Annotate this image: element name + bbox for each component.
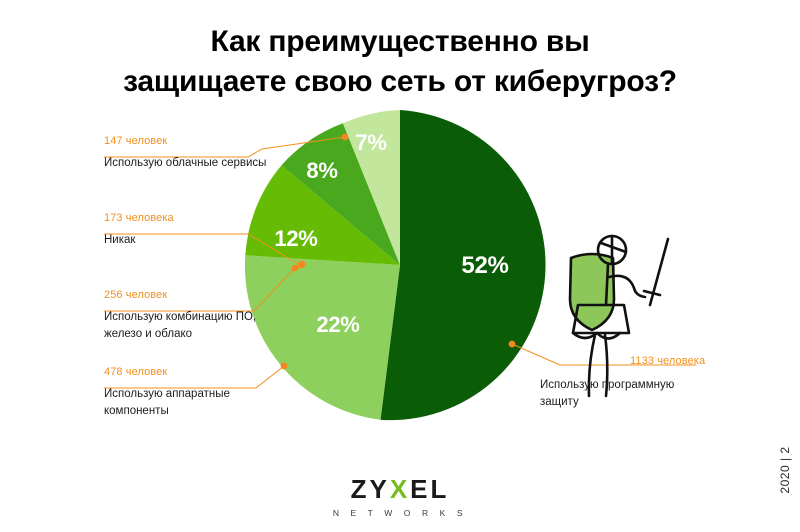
zyxel-wordmark: ZYXEL (0, 476, 800, 502)
pie-label-hardware: 22% (316, 312, 359, 338)
zyxel-wordmark-part2: EL (410, 474, 449, 504)
leader-dot-combo (292, 265, 299, 272)
zyxel-logo-subtitle: N E T W O R K S (0, 508, 800, 518)
callout-none: 173 человека Никак (104, 212, 174, 249)
callout-none-desc: Никак (104, 232, 174, 249)
callout-hardware: 478 человек Использую аппаратные компоне… (104, 366, 230, 420)
page-number-label: 2020 | 2 (778, 446, 792, 493)
pie-chart-svg (0, 0, 800, 532)
pie-label-cloud: 7% (355, 130, 386, 156)
leader-dot-cloud (342, 134, 349, 141)
callout-cloud: 147 человек Использую облачные сервисы (104, 135, 266, 172)
callout-hardware-desc-1: Использую аппаратные (104, 386, 230, 403)
callout-combo-desc-1: Использую комбинацию ПО, (104, 309, 256, 326)
leader-dot-hardware (281, 363, 288, 370)
callout-software-desc-1: Использую программную (540, 377, 705, 394)
leader-dot-software (509, 341, 516, 348)
callout-cloud-desc: Использую облачные сервисы (104, 155, 266, 172)
callout-hardware-desc-2: компоненты (104, 403, 230, 420)
pie-label-none: 8% (306, 158, 337, 184)
callout-hardware-count: 478 человек (104, 366, 230, 379)
callout-cloud-count: 147 человек (104, 135, 266, 148)
leader-dot-none-slice (299, 261, 306, 268)
pie-label-combo: 12% (274, 226, 317, 252)
pie-chart-area: 52% 22% 12% 8% 7% 147 человек Использую … (0, 0, 800, 532)
pie-label-software: 52% (461, 252, 508, 280)
callout-none-count: 173 человека (104, 212, 174, 225)
callout-software-count: 1133 человека (630, 355, 705, 368)
callout-combo-count: 256 человек (104, 289, 256, 302)
callout-combo-desc-2: железо и облако (104, 326, 256, 343)
page-number: 2020 | 2 (774, 430, 796, 510)
callout-software-desc-2: защиту (540, 394, 705, 411)
slide-canvas: Как преимущественно вы защищаете свою се… (0, 0, 800, 532)
zyxel-wordmark-x: X (390, 474, 410, 504)
zyxel-wordmark-part1: ZY (351, 474, 390, 504)
callout-combo: 256 человек Использую комбинацию ПО, жел… (104, 289, 256, 343)
zyxel-logo: ZYXEL N E T W O R K S (0, 476, 800, 518)
callout-software: 1133 человека Использую программную защи… (630, 355, 705, 411)
